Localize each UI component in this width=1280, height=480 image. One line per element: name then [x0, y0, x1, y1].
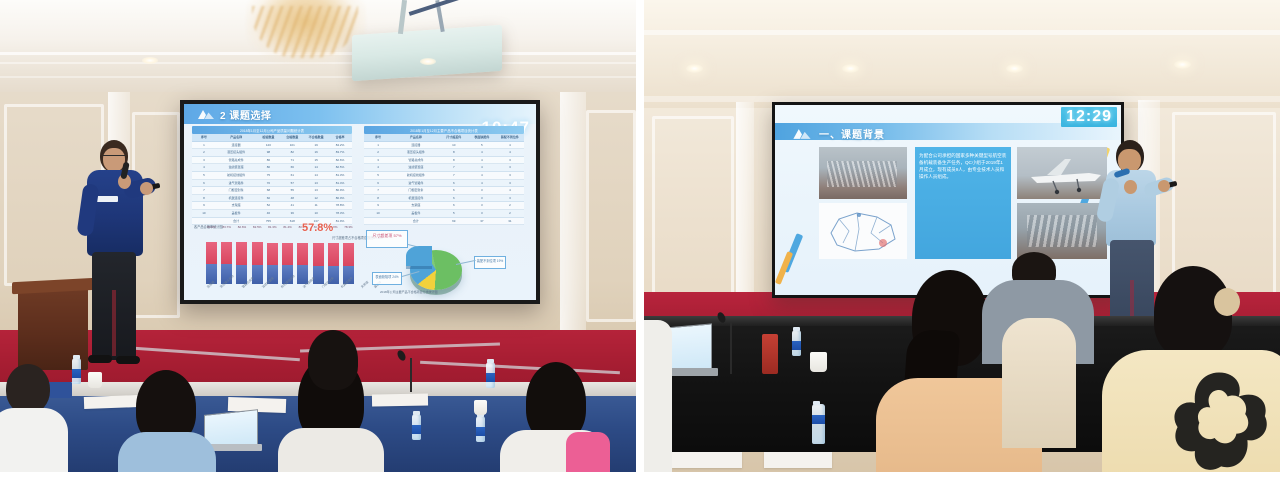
table-row: 5舵机接线组件743 [364, 172, 524, 180]
table-header-row: 序号产品名称尺寸超差件表面缺陷件装配不到位件 [364, 134, 524, 142]
table-row: 2液压接头组件844 [364, 149, 524, 157]
table-cell: 8 [192, 195, 216, 202]
table-header-row: 序号产品名称检验数量合格数量不合格数量合格率 [192, 134, 352, 142]
downlight [842, 64, 859, 73]
bar-segment-top [267, 243, 278, 265]
conference-microphone [400, 348, 422, 392]
table-row: 5舵机接线组件75611481.3% [192, 172, 352, 180]
table-cell: 2 [496, 202, 524, 209]
table-cell: 3 [496, 180, 524, 187]
table-cell: 6 [440, 180, 468, 187]
photo-divider [636, 0, 644, 480]
mic-stem [410, 358, 412, 392]
table-cell: 舵机接线组件 [392, 172, 440, 179]
bar-segment-top [236, 242, 247, 264]
table-cell: 机翼连接件 [392, 195, 440, 202]
bar-value-label: 78.3% [343, 225, 354, 229]
wall-pillar [560, 92, 586, 342]
table-cell: 进气管路件 [392, 180, 440, 187]
bottle-label [812, 415, 825, 424]
table-cell: 7 [440, 164, 468, 171]
table-cell: 4 [496, 149, 524, 156]
table-cell: 618 [280, 218, 304, 225]
table-cell: 6 [440, 202, 468, 209]
table-cell: 4 [468, 172, 496, 179]
table-row: 8机翼连接件633 [364, 195, 524, 203]
table-cell: 5 [468, 142, 496, 149]
mountain-logo-icon [791, 127, 813, 141]
bottle-cap [413, 411, 420, 415]
presentation-photo-right: 一、课题背景 12:29 [644, 0, 1280, 480]
table-cell: 4 [468, 180, 496, 187]
water-bottle [72, 358, 81, 384]
water-bottle [812, 404, 825, 444]
table-cell: 41 [280, 202, 304, 209]
table-left: 2018年1月至12月公司产品质量问题统计表 序号产品名称检验数量合格数量不合格… [192, 126, 352, 225]
highlight-percent: 57.8% [302, 222, 333, 234]
table-header-cell: 产品名称 [392, 134, 440, 141]
papers [764, 452, 832, 468]
bar-column: 82.6% [236, 232, 247, 284]
table-cell: 4 [192, 164, 216, 171]
table-header-row: 序号产品名称尺寸超差件表面缺陷件装配不到位件 [364, 134, 524, 142]
table-cell: 98 [256, 149, 280, 156]
audience-member [500, 362, 610, 480]
table-cell: 1 [364, 142, 392, 149]
table-cell: 6 [440, 195, 468, 202]
table-cell: 8 [440, 157, 468, 164]
table-row: 7门框密封条68551380.9% [192, 187, 352, 195]
presentation-photo-left: 2 课题选择 10:47 2018年1月至12月公司产品质量问题统计表 序号产品… [0, 0, 636, 480]
table-cell: 78.8% [328, 202, 352, 209]
tea-cup [810, 352, 827, 372]
table-cell: 7 [192, 187, 216, 194]
table-caption-right: 2018年1月至12月主要产品不合格项目统计表 [364, 126, 524, 134]
table-cell: 13 [304, 187, 328, 194]
ceiling-cornice [644, 30, 1280, 35]
table-cell: 80 [256, 164, 280, 171]
table-cell: 14 [304, 172, 328, 179]
table-cell: 6 [440, 187, 468, 194]
presenter-hand-right [1158, 180, 1170, 192]
audience-member [0, 364, 66, 480]
table-cell: 84.2% [328, 142, 352, 149]
wall-panel [586, 110, 636, 322]
table-cell: 连接器 [216, 142, 257, 149]
table-row: 10盖板件46361078.3% [192, 210, 352, 218]
table-header-cell: 装配不到位件 [496, 134, 524, 141]
table-cell: 86 [256, 157, 280, 164]
table-cell: 油滤装置座 [392, 164, 440, 171]
table-cell: 10 [364, 210, 392, 217]
table-cell: 83.7% [328, 149, 352, 156]
tea-cup [88, 372, 102, 388]
table-cell: 8 [364, 195, 392, 202]
bar-value-label: 84.2% [206, 225, 217, 229]
bar-value-label: 82.5% [252, 225, 263, 229]
table-cell: 66 [280, 164, 304, 171]
table-cell: 管路总成件 [392, 157, 440, 164]
table-cell: 48 [280, 195, 304, 202]
bar-segment-top [343, 243, 354, 266]
bottle-cap [793, 327, 800, 331]
table-cell: 5 [364, 172, 392, 179]
ceiling-right [644, 0, 1280, 108]
slide-title-right: 一、课题背景 [819, 126, 885, 141]
table-cell: 4 [364, 164, 392, 171]
table-cell: 10 [304, 210, 328, 217]
table-cell: 3 [192, 157, 216, 164]
table-row: 3管路总成件843 [364, 157, 524, 165]
table-header-cell: 产品名称 [216, 134, 257, 141]
audience-head [308, 330, 358, 390]
table-cell: 81.3% [328, 172, 352, 179]
table-row: 7门框密封条634 [364, 187, 524, 195]
downlight [686, 64, 703, 73]
presenter-hand-right [140, 182, 153, 195]
table-cell: 5 [192, 172, 216, 179]
bar-value-label: 81.4% [282, 225, 293, 229]
table-cell: 13 [304, 180, 328, 187]
bottle-label [486, 373, 495, 382]
audience-member [118, 370, 216, 480]
accent-stripe-orange [775, 251, 793, 285]
table-header-cell: 尺寸超差件 [440, 134, 468, 141]
audience-chair [1002, 318, 1076, 448]
papers [672, 452, 742, 468]
table-cell: 2 [364, 149, 392, 156]
conference-microphone [718, 310, 740, 370]
table-cell: 70 [256, 180, 280, 187]
table-row: 6进气管路件70571381.4% [192, 180, 352, 188]
presenter-shoe [88, 355, 112, 363]
table-cell: 57 [280, 180, 304, 187]
table-cell: 55 [280, 187, 304, 194]
audience-member [300, 330, 370, 400]
table-cell: 46 [256, 210, 280, 217]
bottle-cap [813, 401, 820, 405]
table-cell: 4 [496, 142, 524, 149]
bottle-cap [487, 359, 494, 363]
water-bottle [486, 362, 495, 388]
table-cell: 3 [496, 195, 524, 202]
callout-dimension: 尺寸超差项 57% [366, 230, 408, 248]
bar-segment-top [328, 243, 339, 266]
table-cell: 盖板件 [392, 210, 440, 217]
table-cell: 52 [256, 202, 280, 209]
table-cell: 71 [280, 157, 304, 164]
presenter-shoe [116, 356, 140, 364]
table-cell: 6 [364, 180, 392, 187]
projection-screen-left: 2 课题选择 10:47 2018年1月至12月公司产品质量问题统计表 序号产品… [180, 100, 540, 304]
table-cell: 2 [192, 149, 216, 156]
table-row: 1连接器1201011984.2% [192, 142, 352, 150]
table-cell: 80.9% [328, 187, 352, 194]
slide-title-left: 2 课题选择 [220, 107, 271, 122]
table-row: 3管路总成件86711582.6% [192, 157, 352, 165]
table-cell: 8 [440, 149, 468, 156]
bar-value-label: 83.7% [221, 225, 232, 229]
table-row: 4油滤装置座80661482.5% [192, 164, 352, 172]
table-header-cell: 表面缺陷件 [468, 134, 496, 141]
table-cell: 37 [468, 218, 496, 225]
table-cell: 75 [256, 172, 280, 179]
downlight [142, 57, 158, 64]
bar-segment-top [297, 243, 308, 266]
tea-cup [474, 400, 487, 415]
table-cell: 1 [192, 142, 216, 149]
table-header-cell: 合格率 [328, 134, 352, 141]
wall-panel [652, 116, 734, 318]
screenshot-root: 2 课题选择 10:47 2018年1月至12月公司产品质量问题统计表 序号产品… [0, 0, 1280, 480]
bar-segment-top [313, 243, 324, 266]
table-cell: 15 [304, 157, 328, 164]
bar-column: 80.9% [297, 232, 308, 284]
audience-member [644, 320, 674, 480]
turboprop-aircraft-photo [1017, 147, 1107, 199]
table-cell: 支架座 [392, 202, 440, 209]
table-cell: 4 [468, 149, 496, 156]
table-cell: 3 [496, 157, 524, 164]
bar-column: 84.2% [206, 232, 217, 284]
slide-clock-right: 12:29 [1061, 107, 1117, 127]
table-row: 合计693731 [364, 218, 524, 226]
table-cell: 3 [468, 210, 496, 217]
equipment-interior-photo [1017, 203, 1107, 259]
table-cell: 管路总成件 [216, 157, 257, 164]
table-cell [364, 218, 392, 225]
table-header-cell: 检验数量 [256, 134, 280, 141]
table-cell: 120 [256, 142, 280, 149]
table-cell: 3 [468, 202, 496, 209]
table-cell: 7 [440, 172, 468, 179]
table-cell: 9 [364, 202, 392, 209]
bar-segment-top [252, 242, 263, 264]
table-cell: 19 [304, 142, 328, 149]
table-cell: 舵机接线组件 [216, 172, 257, 179]
table-cell: 10 [440, 142, 468, 149]
table-cell: 7 [364, 187, 392, 194]
table-header-cell: 合格数量 [280, 134, 304, 141]
table-cell: 门框密封条 [392, 187, 440, 194]
table-header-cell: 序号 [364, 134, 392, 141]
factory-assembly-photo [819, 147, 907, 199]
table-cell: 门框密封条 [216, 187, 257, 194]
callout-surface: 表面缺陷项 24% [372, 272, 402, 285]
table-cell: 82 [280, 149, 304, 156]
mic-stem [730, 322, 732, 374]
bottle-label [412, 425, 421, 434]
table-cell: 80.0% [328, 195, 352, 202]
presenter-badge [96, 196, 118, 202]
downlight [1006, 64, 1023, 73]
table-cell: 60 [256, 195, 280, 202]
table-cell: 3 [496, 172, 524, 179]
table-cell: 5 [440, 210, 468, 217]
table-cell: 12 [304, 195, 328, 202]
table-cell: 10 [192, 210, 216, 217]
bottle-label [476, 427, 485, 436]
table-cell: 盖板件 [216, 210, 257, 217]
table-cell: 755 [256, 218, 280, 225]
table-cell: 36 [280, 210, 304, 217]
bar-chart-x-axis: 连接器液压接头组件管路总成件油滤装置座舵机接线组件进气管路件门框密封条机翼连接件… [206, 286, 354, 300]
table-cell: 进气管路件 [216, 180, 257, 187]
table-header-row: 序号产品名称检验数量合格数量不合格数量合格率 [192, 134, 352, 142]
table-cell: 3 [496, 164, 524, 171]
table-cell: 机翼连接件 [216, 195, 257, 202]
presenter-leg-gap [112, 290, 116, 356]
table-cell: 81.4% [328, 180, 352, 187]
table-row: 4油滤装置座743 [364, 164, 524, 172]
water-bottle [476, 416, 485, 442]
table-row: 6进气管路件643 [364, 180, 524, 188]
bar-segment-top [282, 243, 293, 265]
bottle-cap [73, 355, 80, 359]
table-cell: 9 [192, 202, 216, 209]
table-cell: 4 [468, 157, 496, 164]
bar-segment-top [206, 242, 217, 264]
presenter-hand [1124, 180, 1137, 194]
table-body: 1连接器1201011984.2%2液压接头组件98821683.7%3管路总成… [192, 142, 352, 226]
table-row: 9支架座52411178.8% [192, 202, 352, 210]
table-row: 8机翼连接件60481280.0% [192, 195, 352, 203]
table-cell: 14 [304, 164, 328, 171]
table-cell: 油滤装置座 [216, 164, 257, 171]
audience-hair-bun [1214, 288, 1240, 316]
pie-caption: 2018年公司主要产品不合格项目分类统计图 [380, 290, 438, 294]
thermos [762, 334, 778, 374]
pipeline-network-diagram [819, 203, 907, 259]
table-cell: 3 [468, 195, 496, 202]
table-cell: 液压接头组件 [392, 149, 440, 156]
table-row: 1连接器1054 [364, 142, 524, 150]
downlight [1174, 60, 1191, 69]
table-cell: 82.6% [328, 157, 352, 164]
bar-column: 82.5% [252, 232, 263, 284]
table-cell: 78.3% [328, 210, 352, 217]
mountain-logo-icon [196, 108, 216, 121]
table-cell: 68 [256, 187, 280, 194]
audience-torso [644, 320, 672, 480]
bar-value-label: 81.3% [267, 225, 278, 229]
table-cell: 61 [280, 172, 304, 179]
bar-segment-top [221, 242, 232, 264]
slide-left: 2 课题选择 10:47 2018年1月至12月公司产品质量问题统计表 序号产品… [184, 104, 536, 300]
photo-bottom-edge [644, 472, 1280, 480]
table-cell: 11 [304, 202, 328, 209]
ceiling-molding [0, 76, 636, 78]
callout-assembly: 装配不到位项 19% [474, 256, 506, 269]
slide-body-text: 为配合公司承担的国家多种关键型号航空装备机载装备生产任务，QC小组于2019年1… [915, 147, 1011, 259]
table-row: 2液压接头组件98821683.7% [192, 149, 352, 157]
bottle-label [792, 341, 801, 350]
bar-value-label: 82.6% [236, 225, 247, 229]
table-cell: 2 [496, 210, 524, 217]
audience-member [1102, 266, 1280, 480]
audience-head [6, 364, 50, 414]
table-cell: 31 [496, 218, 524, 225]
table-cell: 合计 [392, 218, 440, 225]
pie-exploded-slice [406, 246, 432, 266]
table-cell: 82.5% [328, 164, 352, 171]
tshirt-graphic [1164, 366, 1274, 480]
table-cell: 4 [468, 164, 496, 171]
table-cell: 支架座 [216, 202, 257, 209]
table-cell: 3 [364, 157, 392, 164]
water-bottle [792, 330, 801, 356]
table-cell: 101 [280, 142, 304, 149]
photo-bottom-edge [0, 472, 636, 480]
table-header-cell: 不合格数量 [304, 134, 328, 141]
table-header-cell: 序号 [192, 134, 216, 141]
mic-head [716, 311, 727, 324]
table-cell: 6 [192, 180, 216, 187]
audience-torso [0, 408, 68, 480]
table-cell: 连接器 [392, 142, 440, 149]
presenter-glasses [103, 155, 125, 160]
downlight [420, 58, 436, 65]
water-bottle [412, 414, 421, 440]
table-row: 9支架座632 [364, 202, 524, 210]
table-cell: 3 [468, 187, 496, 194]
table-cell: 69 [440, 218, 468, 225]
table-caption-left: 2018年1月至12月公司产品质量问题统计表 [192, 126, 352, 134]
bottle-label [72, 369, 81, 378]
table-cell: 16 [304, 149, 328, 156]
table-cell: 液压接头组件 [216, 149, 257, 156]
table-body: 1连接器10542液压接头组件8443管路总成件8434油滤装置座7435舵机接… [364, 142, 524, 226]
table-cell: 4 [496, 187, 524, 194]
table-row: 10盖板件532 [364, 210, 524, 218]
table-right: 2018年1月至12月主要产品不合格项目统计表 序号产品名称尺寸超差件表面缺陷件… [364, 126, 524, 225]
presenter-left [78, 140, 158, 370]
